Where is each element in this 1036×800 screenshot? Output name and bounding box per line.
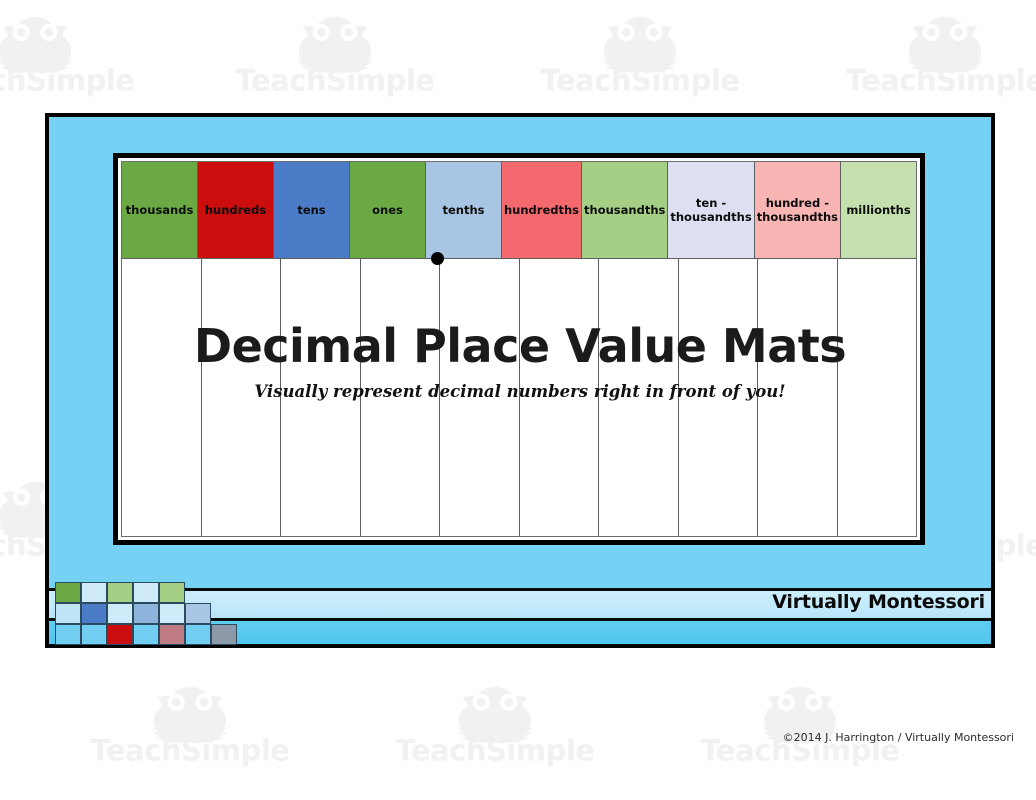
place-value-label: hundredths (504, 203, 579, 217)
place-value-slot[interactable] (838, 259, 917, 536)
place-value-header-cell: hundreds (198, 162, 274, 259)
watermark: TeachSimple (490, 15, 790, 96)
place-value-slot[interactable] (122, 259, 202, 536)
watermark-text: TeachSimple (490, 67, 790, 96)
place-value-slot[interactable] (679, 259, 759, 536)
owl-logo-icon (0, 15, 185, 73)
place-value-label: ones (372, 203, 403, 217)
brand-name: Virtually Montessori (772, 591, 985, 613)
place-value-slot[interactable] (440, 259, 520, 536)
logo-block (133, 603, 159, 624)
watermark-text: TeachSimple (185, 67, 485, 96)
place-value-header-cell: thousands (122, 162, 198, 259)
logo-block (81, 624, 107, 645)
place-value-header-row: thousandshundredstensonestenthshundredth… (122, 162, 916, 259)
owl-logo-icon (40, 685, 340, 743)
logo-block (133, 624, 159, 645)
place-value-header-cell: tenths (426, 162, 502, 259)
place-value-label: tens (297, 203, 325, 217)
decimal-point-marker (431, 252, 444, 265)
place-value-slot[interactable] (758, 259, 838, 536)
watermark: TeachSimple (0, 15, 185, 96)
watermark-text: TeachSimple (345, 737, 645, 766)
logo-block (81, 603, 107, 624)
logo-block (185, 603, 211, 624)
place-value-header-cell: thousandths (582, 162, 668, 259)
place-value-header-cell: hundredths (502, 162, 582, 259)
logo-block (81, 582, 107, 603)
owl-logo-icon (185, 15, 485, 73)
owl-logo-icon (795, 15, 1036, 73)
owl-logo-icon (490, 15, 790, 73)
watermark-text: TeachSimple (795, 67, 1036, 96)
watermark: TeachSimple (795, 15, 1036, 96)
place-value-header-cell: ten - thousandths (668, 162, 754, 259)
place-value-header-cell: tens (274, 162, 350, 259)
place-value-body-row (122, 259, 916, 536)
place-value-label: hundreds (205, 203, 266, 217)
logo-block (107, 624, 133, 645)
logo-block (159, 582, 185, 603)
place-value-header-cell: ones (350, 162, 426, 259)
watermark: TeachSimple (185, 15, 485, 96)
logo-block (55, 603, 81, 624)
place-value-label: hundred - thousandths (757, 196, 838, 225)
logo-block (211, 624, 237, 645)
place-value-header-cell: millionths (841, 162, 916, 259)
copyright-notice: ©2014 J. Harrington / Virtually Montesso… (783, 731, 1014, 744)
place-value-label: thousandths (584, 203, 665, 217)
footer-band: Virtually Montessori (49, 582, 991, 644)
logo-block (159, 603, 185, 624)
logo-block (55, 624, 81, 645)
place-value-label: thousands (126, 203, 194, 217)
watermark: TeachSimple (345, 685, 645, 766)
place-value-slot[interactable] (599, 259, 679, 536)
place-value-label: millionths (846, 203, 910, 217)
watermark: TeachSimple (650, 685, 950, 766)
place-value-slot[interactable] (361, 259, 441, 536)
place-value-slot[interactable] (281, 259, 361, 536)
place-value-slot[interactable] (520, 259, 600, 536)
watermark-text: TeachSimple (0, 67, 185, 96)
logo-block (107, 603, 133, 624)
logo-block (185, 624, 211, 645)
place-value-label: ten - thousandths (670, 196, 751, 225)
owl-logo-icon (345, 685, 645, 743)
place-value-header-cell: hundred - thousandths (755, 162, 841, 259)
watermark-text: TeachSimple (40, 737, 340, 766)
watermark: TeachSimple (40, 685, 340, 766)
logo-block (159, 624, 185, 645)
place-value-label: tenths (442, 203, 484, 217)
place-value-table: thousandshundredstensonestenthshundredth… (113, 153, 925, 545)
poster-canvas: thousandshundredstensonestenthshundredth… (45, 113, 995, 648)
logo-block (133, 582, 159, 603)
place-value-slot[interactable] (202, 259, 282, 536)
logo-block (55, 582, 81, 603)
logo-block (107, 582, 133, 603)
